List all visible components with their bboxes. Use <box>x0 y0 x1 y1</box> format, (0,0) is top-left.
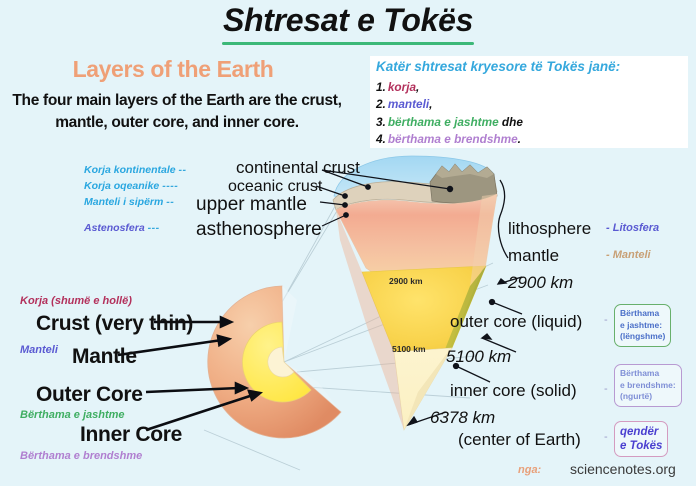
label-continental-crust: continental crust <box>236 158 360 178</box>
list-item-tail: , <box>429 97 432 111</box>
label-depth-6378: 6378 km <box>430 408 495 428</box>
cutaway-depth-5100: 5100 km <box>392 344 426 354</box>
label-sq-manteli: - Manteli <box>606 249 651 261</box>
list-item-term: bërthama e jashtme <box>386 115 499 129</box>
label-inner-core-sphere: Inner Core <box>80 423 182 447</box>
list-item-tail: . <box>518 132 521 146</box>
footer-source: sciencenotes.org <box>570 461 676 477</box>
list-item: 3.bërthama e jashtme dhe <box>376 114 523 131</box>
albanian-list-panel: Katër shtresat kryesore të Tokës janë: 1… <box>370 56 688 148</box>
page-title: Shtresat e Tokës <box>0 2 696 39</box>
dash-leader: -- <box>166 196 174 208</box>
label-sq-upper-mantle: Manteli i sipërm -- <box>84 196 174 208</box>
notebox-outer-core: Bërthama e jashtme: (lëngshme) <box>614 304 671 347</box>
label-mantle-sphere: Mantle <box>72 345 137 369</box>
notebox-line: (ngurtë) <box>620 391 676 403</box>
label-depth-2900: 2900 km <box>508 273 573 293</box>
list-item-tail: , <box>416 80 419 94</box>
label-sq-manteli-sphere: Manteli <box>20 344 58 356</box>
label-depth-5100: 5100 km <box>446 347 511 367</box>
cutaway-depth-2900: 2900 km <box>389 276 423 286</box>
dash-leader: - <box>604 431 608 443</box>
list-item: 4.bërthama e brendshme. <box>376 131 523 148</box>
label-lithosphere: lithosphere <box>508 219 591 239</box>
dash-leader: - <box>604 383 608 395</box>
dash-leader: ---- <box>162 180 178 192</box>
label-sq-oceanic-crust: Korja oqeanike ---- <box>84 180 178 192</box>
notebox-inner-core: Bërthama e brendshme: (ngurtë) <box>614 364 682 407</box>
label-sq-korja: Korja (shumë e hollë) <box>20 295 132 307</box>
label-sq-berthama-jashtme: Bërthama e jashtme <box>20 409 125 421</box>
footer-nga-label: nga: <box>518 464 541 476</box>
intro-paragraph: The four main layers of the Earth are th… <box>8 90 346 135</box>
notebox-line: qendër <box>620 425 662 439</box>
sphere-cross-section <box>208 286 341 438</box>
list-item-term: korja <box>386 80 416 94</box>
dash-leader: -- <box>179 164 187 176</box>
list-item-number: 4. <box>376 132 386 146</box>
notebox-line: e jashtme: <box>620 320 665 332</box>
list-item-number: 1. <box>376 80 386 94</box>
poster-canvas: Shtresat e Tokës Layers of the Earth The… <box>0 0 696 486</box>
label-asthenosphere: asthenosphere <box>196 219 322 241</box>
list-item: 1.korja, <box>376 79 523 96</box>
label-upper-mantle: upper mantle <box>196 194 307 216</box>
list-item-number: 2. <box>376 97 386 111</box>
list-item: 2.manteli, <box>376 96 523 113</box>
list-item-number: 3. <box>376 115 386 129</box>
notebox-line: Bërthama <box>620 308 665 320</box>
list-item-term: bërthama e brendshme <box>386 132 518 146</box>
dash-leader: - <box>604 314 608 326</box>
label-inner-core: inner core (solid) <box>450 381 577 401</box>
label-mantle: mantle <box>508 246 559 266</box>
label-center-of-earth: (center of Earth) <box>458 430 581 450</box>
label-sq-asthenosphere: Astenosfera --- <box>84 222 160 234</box>
label-crust: Crust (very thin) <box>36 312 193 336</box>
subtitle-layers-of-the-earth: Layers of the Earth <box>8 56 338 83</box>
notebox-line: (lëngshme) <box>620 331 665 343</box>
dash-leader: --- <box>148 222 160 234</box>
label-sq-continental-crust: Korja kontinentale -- <box>84 164 187 176</box>
notebox-line: e Tokës <box>620 439 662 453</box>
list-item-tail: dhe <box>499 115 523 129</box>
albanian-list: 1.korja, 2.manteli, 3.bërthama e jashtme… <box>376 79 523 149</box>
list-item-term: manteli <box>386 97 429 111</box>
notebox-line: Bërthama <box>620 368 676 380</box>
notebox-line: e brendshme: <box>620 380 676 392</box>
label-sq-berthama-brendshme: Bërthama e brendshme <box>20 450 142 462</box>
notebox-center-of-earth: qendër e Tokës <box>614 421 668 457</box>
label-outer-core: outer core (liquid) <box>450 312 582 332</box>
title-underline <box>222 42 474 45</box>
label-outer-core-sphere: Outer Core <box>36 383 143 407</box>
label-sq-litosfera: - Litosfera <box>606 222 659 234</box>
albanian-list-heading: Katër shtresat kryesore të Tokës janë: <box>376 59 620 74</box>
